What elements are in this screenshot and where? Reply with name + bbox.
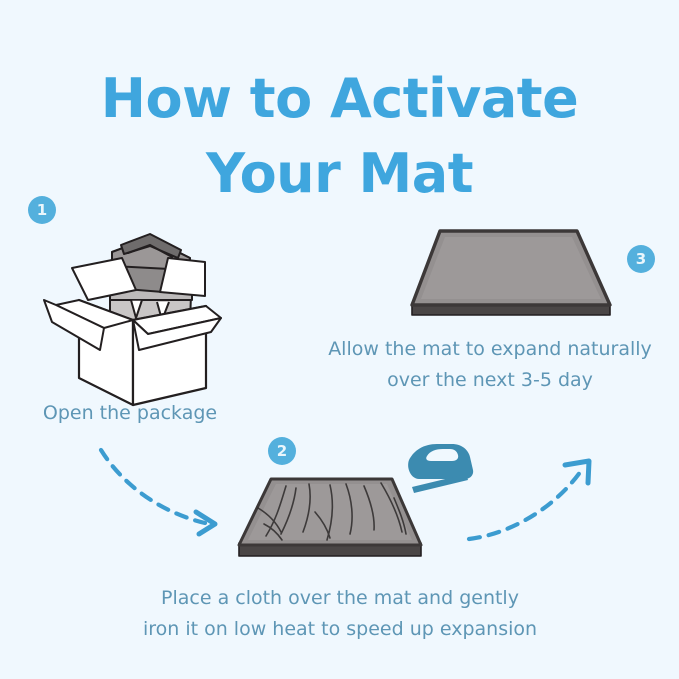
step-3-caption-line-1: Allow the mat to expand naturally	[310, 334, 670, 365]
step-2-caption: Place a cloth over the mat and gently ir…	[60, 583, 620, 645]
step-3-caption: Allow the mat to expand naturally over t…	[310, 334, 670, 396]
arrow-step2-to-step3	[469, 461, 589, 539]
infographic-canvas: How to Activate Your Mat 1 2 3 Open the …	[0, 0, 679, 679]
box-flap-back-right	[160, 258, 205, 296]
step-3-caption-line-2: over the next 3-5 day	[310, 365, 670, 396]
step-badge-2: 2	[268, 437, 296, 465]
title-line-1: How to Activate	[0, 62, 679, 137]
step-1-caption-line-1: Open the package	[0, 398, 260, 429]
title-line-2: Your Mat	[0, 137, 679, 212]
flat-mat-illustration	[412, 231, 610, 315]
iron-icon	[408, 444, 473, 493]
step-2-caption-line-2: iron it on low heat to speed up expansio…	[60, 614, 620, 645]
step-2-caption-line-1: Place a cloth over the mat and gently	[60, 583, 620, 614]
wrinkled-mat-illustration	[239, 479, 421, 556]
step-badge-1: 1	[28, 196, 56, 224]
step-1-caption: Open the package	[0, 398, 260, 429]
open-box-illustration	[44, 234, 221, 405]
arrow-step1-to-step2	[101, 450, 215, 534]
step-badge-3: 3	[627, 245, 655, 273]
page-title: How to Activate Your Mat	[0, 62, 679, 211]
